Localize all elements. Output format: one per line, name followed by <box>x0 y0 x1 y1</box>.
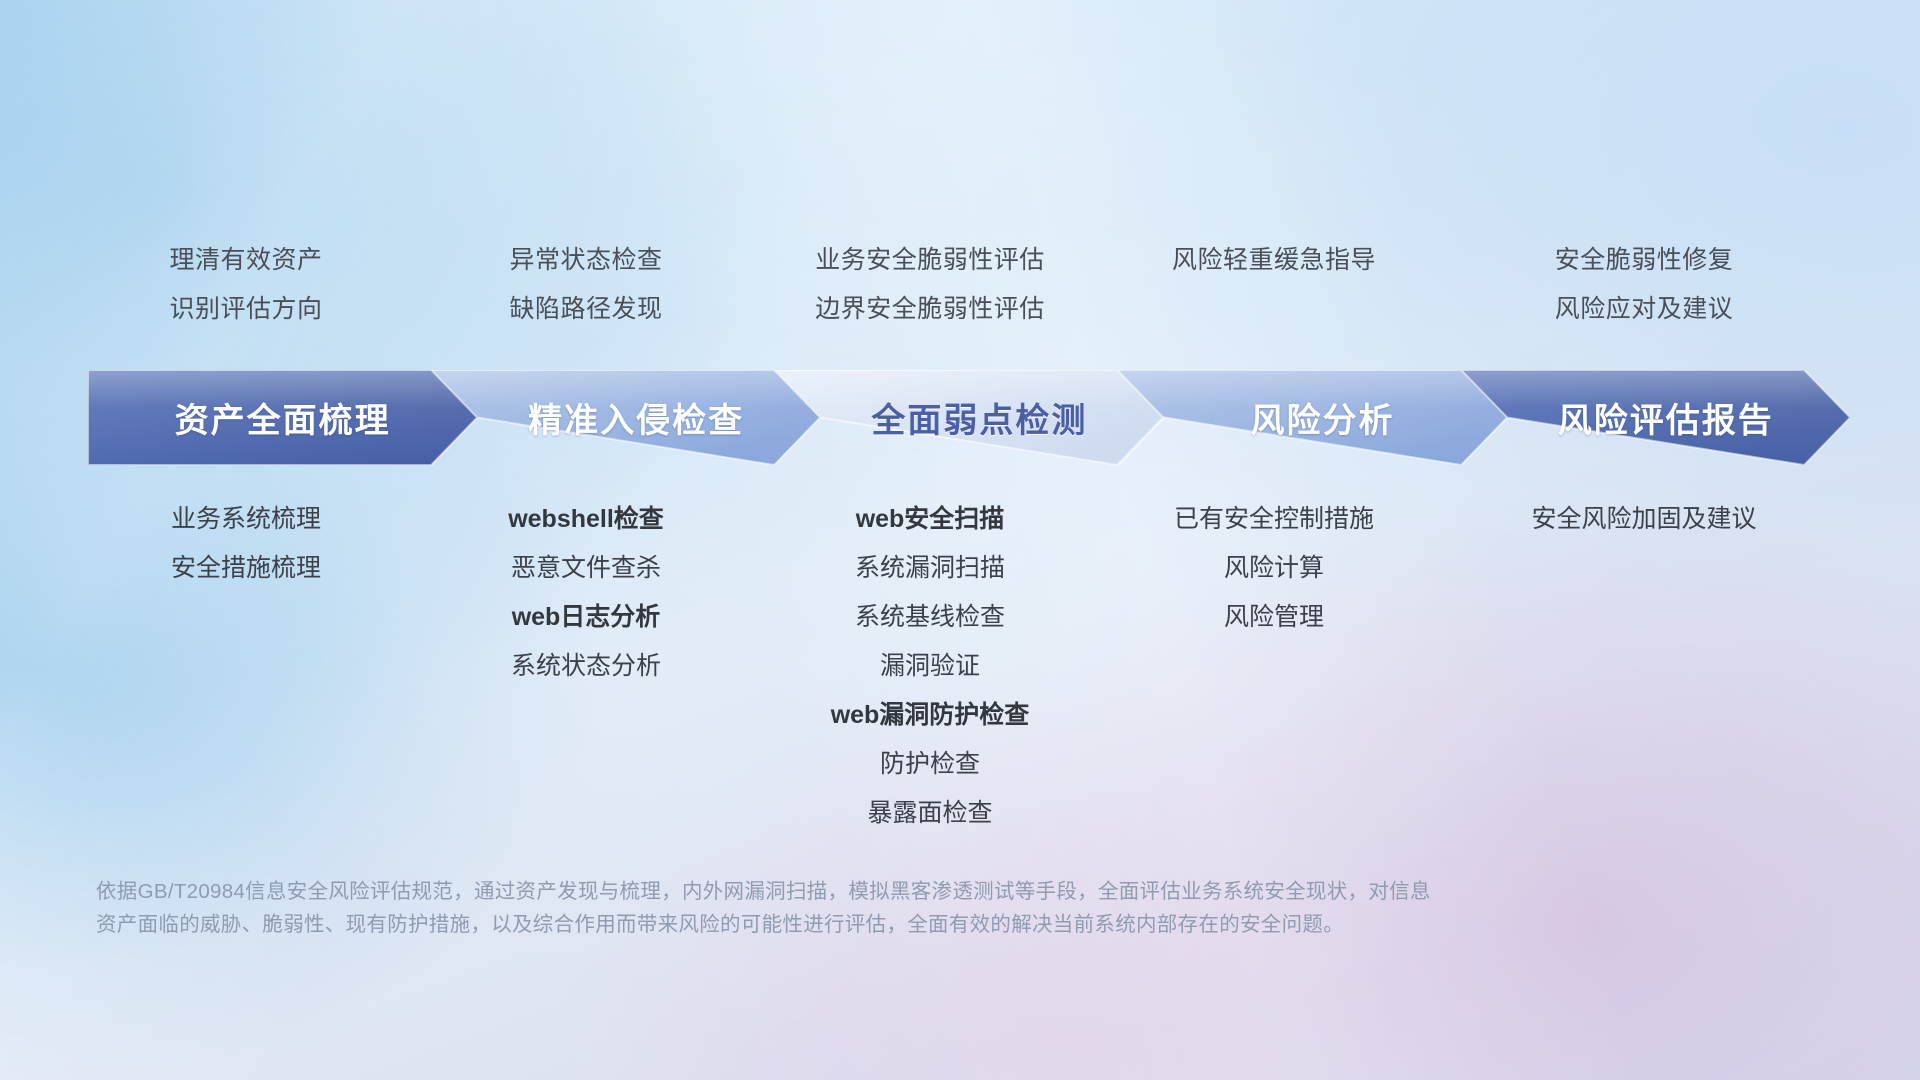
top-label-group-risk-analysis: 风险轻重缓急指导 <box>1104 236 1444 334</box>
list-item: 系统基线检查 <box>756 593 1104 642</box>
slide-canvas: 理清有效资产识别评估方向异常状态检查缺陷路径发现业务安全脆弱性评估边界安全脆弱性… <box>0 0 1920 1080</box>
list-item: 已有安全控制措施 <box>1104 495 1444 544</box>
top-label: 风险轻重缓急指导 <box>1104 236 1444 285</box>
top-label: 风险应对及建议 <box>1444 285 1844 334</box>
process-step-intrusion-check[interactable]: 精准入侵检查 <box>431 370 820 465</box>
process-step-asset-inventory[interactable]: 资产全面梳理 <box>88 370 477 465</box>
list-item: web漏洞防护检查 <box>756 691 1104 740</box>
footer-description: 依据GB/T20984信息安全风险评估规范，通过资产发现与梳理，内外网漏洞扫描，… <box>96 875 1626 941</box>
process-step-label: 风险评估报告 <box>1558 393 1774 442</box>
top-label: 异常状态检查 <box>416 236 756 285</box>
list-item: web安全扫描 <box>756 495 1104 544</box>
list-item: 漏洞验证 <box>756 642 1104 691</box>
top-label-group-weakness-detection: 业务安全脆弱性评估边界安全脆弱性评估 <box>756 236 1104 334</box>
list-item: 系统状态分析 <box>416 642 756 691</box>
item-list-asset-inventory: 业务系统梳理安全措施梳理 <box>76 495 416 593</box>
top-label: 识别评估方向 <box>76 285 416 334</box>
item-list-weakness-detection: web安全扫描系统漏洞扫描系统基线检查漏洞验证web漏洞防护检查防护检查暴露面检… <box>756 495 1104 838</box>
process-step-label: 精准入侵检查 <box>528 393 744 442</box>
list-item: 安全措施梳理 <box>76 544 416 593</box>
process-step-label: 资产全面梳理 <box>175 393 391 442</box>
top-label: 业务安全脆弱性评估 <box>756 236 1104 285</box>
process-step-weakness-detection[interactable]: 全面弱点检测 <box>774 370 1163 465</box>
process-step-risk-report[interactable]: 风险评估报告 <box>1461 370 1850 465</box>
list-item: 防护检查 <box>756 740 1104 789</box>
process-step-label: 风险分析 <box>1251 393 1395 442</box>
process-step-label: 全面弱点检测 <box>871 393 1087 442</box>
bottom-lists-row: 业务系统梳理安全措施梳理webshell检查恶意文件查杀web日志分析系统状态分… <box>76 495 1844 838</box>
top-label: 理清有效资产 <box>76 236 416 285</box>
top-label-group-asset-inventory: 理清有效资产识别评估方向 <box>76 236 416 334</box>
footer-line-1: 依据GB/T20984信息安全风险评估规范，通过资产发现与梳理，内外网漏洞扫描，… <box>96 875 1626 908</box>
top-label: 安全脆弱性修复 <box>1444 236 1844 285</box>
item-list-risk-report: 安全风险加固及建议 <box>1444 495 1844 544</box>
top-label: 边界安全脆弱性评估 <box>756 285 1104 334</box>
top-label-group-intrusion-check: 异常状态检查缺陷路径发现 <box>416 236 756 334</box>
item-list-risk-analysis: 已有安全控制措施风险计算风险管理 <box>1104 495 1444 642</box>
list-item: 恶意文件查杀 <box>416 544 756 593</box>
list-item: 风险管理 <box>1104 593 1444 642</box>
footer-line-2: 资产面临的威胁、脆弱性、现有防护措施，以及综合作用而带来风险的可能性进行评估，全… <box>96 908 1626 941</box>
process-step-risk-analysis[interactable]: 风险分析 <box>1118 370 1507 465</box>
top-labels-row: 理清有效资产识别评估方向异常状态检查缺陷路径发现业务安全脆弱性评估边界安全脆弱性… <box>76 236 1844 334</box>
list-item: 安全风险加固及建议 <box>1444 495 1844 544</box>
item-list-intrusion-check: webshell检查恶意文件查杀web日志分析系统状态分析 <box>416 495 756 691</box>
list-item: 风险计算 <box>1104 544 1444 593</box>
list-item: webshell检查 <box>416 495 756 544</box>
list-item: web日志分析 <box>416 593 756 642</box>
list-item: 业务系统梳理 <box>76 495 416 544</box>
list-item: 暴露面检查 <box>756 789 1104 838</box>
process-chevron-banner: 资产全面梳理精准入侵检查全面弱点检测风险分析风险评估报告 <box>88 370 1850 465</box>
list-item: 系统漏洞扫描 <box>756 544 1104 593</box>
top-label-group-risk-report: 安全脆弱性修复风险应对及建议 <box>1444 236 1844 334</box>
top-label: 缺陷路径发现 <box>416 285 756 334</box>
